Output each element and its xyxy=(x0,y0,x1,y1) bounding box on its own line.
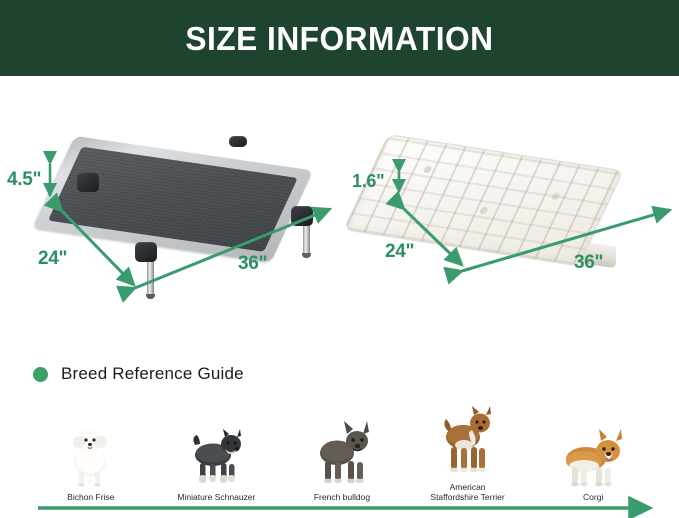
page-title: SIZE INFORMATION xyxy=(185,22,493,55)
dog-corgi-icon xyxy=(530,411,656,489)
cot-height-label: 4.5" xyxy=(7,169,41,191)
mattress-length-label: 36" xyxy=(574,252,603,274)
page-header: SIZE INFORMATION xyxy=(0,0,679,76)
list-item[interactable]: Miniature Schnauzer xyxy=(154,394,280,502)
cot-length-label: 36" xyxy=(238,253,267,275)
product-diagrams xyxy=(0,76,679,336)
cot-corner-back xyxy=(229,136,247,147)
list-item-label: Corgi xyxy=(583,492,603,502)
cot-frame xyxy=(33,136,313,263)
dog-cot-icon xyxy=(75,136,335,276)
bullet-dot-icon xyxy=(33,367,48,382)
breed-reference-guide: Breed Reference Guide xyxy=(0,336,679,518)
mattress-icon xyxy=(388,134,666,284)
dog-french-bulldog-icon xyxy=(279,411,405,489)
dog-miniature-schnauzer-icon xyxy=(154,411,280,489)
breed-list: Bichon Frise xyxy=(28,394,656,502)
cot-corner-front xyxy=(135,242,157,262)
cot-corner-right xyxy=(291,206,313,226)
list-item-label: Bichon Frise xyxy=(67,492,114,502)
dog-american-staffordshire-terrier-icon xyxy=(405,401,531,479)
cot-width-label: 24" xyxy=(38,248,67,270)
breed-guide-heading-label: Breed Reference Guide xyxy=(61,364,244,384)
cot-corner-left xyxy=(77,172,99,192)
cot-mesh-fabric xyxy=(48,147,298,252)
product-dog-cot xyxy=(0,76,339,336)
mattress-width-label: 24" xyxy=(385,241,414,263)
list-item-label: Miniature Schnauzer xyxy=(177,492,255,502)
mattress-height-label: 1.6" xyxy=(352,171,384,192)
dog-bichon-frise-icon xyxy=(28,411,154,489)
list-item[interactable]: Bichon Frise xyxy=(28,394,154,502)
product-mattress xyxy=(340,76,679,336)
breed-guide-heading: Breed Reference Guide xyxy=(33,364,244,384)
list-item[interactable]: American Staffordshire Terrier xyxy=(405,394,531,502)
list-item[interactable]: Corgi xyxy=(530,394,656,502)
list-item[interactable]: French bulldog xyxy=(279,394,405,502)
list-item-label: American Staffordshire Terrier xyxy=(430,482,504,502)
list-item-label: French bulldog xyxy=(314,492,370,502)
